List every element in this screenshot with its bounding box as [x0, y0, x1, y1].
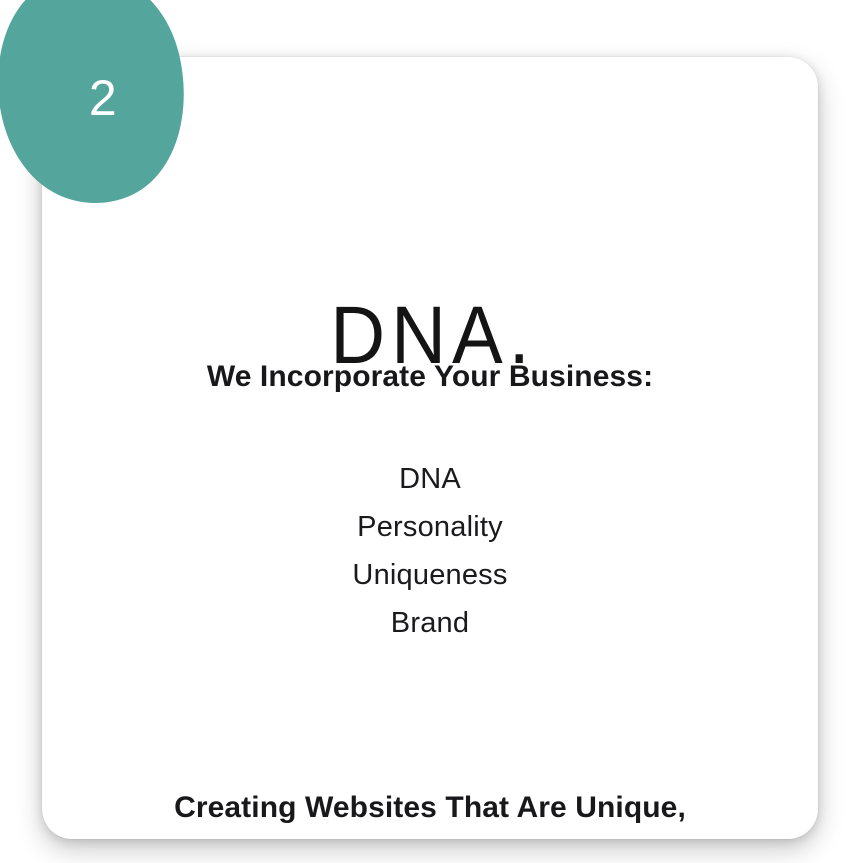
list-item: Uniqueness	[42, 551, 818, 599]
list-item: Personality	[42, 503, 818, 551]
subtitle: We Incorporate Your Business:	[42, 359, 818, 395]
blob-shape-icon	[0, 0, 196, 210]
tagline: Creating Websites That Are Unique, Perso…	[42, 688, 818, 839]
list-item: Brand	[42, 599, 818, 647]
tagline-line-1: Creating Websites That Are Unique,	[42, 784, 818, 832]
slide-canvas: DNA. We Incorporate Your Business: DNA P…	[0, 0, 850, 863]
step-number-badge: 2	[0, 0, 196, 210]
list-item: DNA	[42, 455, 818, 503]
attribute-list: DNA Personality Uniqueness Brand	[42, 455, 818, 647]
